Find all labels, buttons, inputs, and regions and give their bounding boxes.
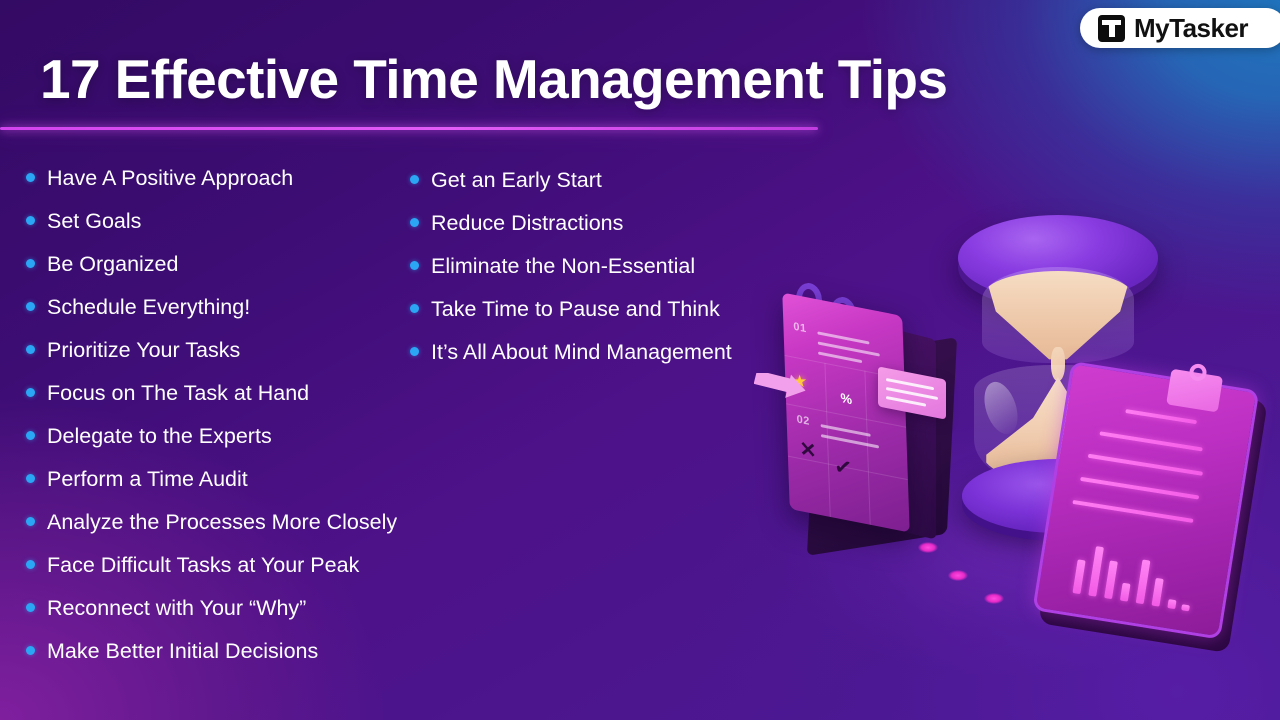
decorative-dot (918, 542, 938, 553)
chart-bar (1088, 546, 1104, 597)
tip-label: Reconnect with Your “Why” (47, 598, 306, 620)
tip-label: Face Difficult Tasks at Your Peak (47, 555, 359, 577)
clipboard-bar-chart (1072, 536, 1200, 612)
bullet-icon (26, 646, 35, 655)
calendar-grid-line (864, 371, 870, 525)
list-item: Take Time to Pause and Think (410, 299, 810, 342)
list-item: Analyze the Processes More Closely (26, 512, 456, 555)
tip-label: Delegate to the Experts (47, 426, 272, 448)
calendar-text-line (818, 351, 862, 363)
chart-bar (1104, 560, 1118, 599)
chart-bar (1181, 604, 1190, 611)
tip-label: Analyze the Processes More Closely (47, 512, 397, 534)
bullet-icon (26, 173, 35, 182)
bullet-icon (26, 302, 35, 311)
tip-label: Get an Early Start (431, 170, 602, 192)
bullet-icon (26, 517, 35, 526)
clipboard-text-line (1088, 454, 1203, 476)
list-item: Perform a Time Audit (26, 469, 456, 512)
list-item: Focus on The Task at Hand (26, 383, 456, 426)
clipboard-board (1032, 361, 1259, 640)
list-item: Have A Positive Approach (26, 168, 456, 211)
mytasker-t-mark-icon (1098, 15, 1125, 42)
list-item: Reduce Distractions (410, 213, 810, 256)
bullet-icon (26, 216, 35, 225)
page-title: 17 Effective Time Management Tips (40, 47, 947, 111)
tips-list-left: Have A Positive Approach Set Goals Be Or… (26, 168, 456, 684)
list-item: Be Organized (26, 254, 456, 297)
bullet-icon (410, 175, 419, 184)
chart-bar (1072, 559, 1085, 594)
calendar-day-label: 02 (796, 413, 810, 428)
tip-label: Focus on The Task at Hand (47, 383, 309, 405)
title-divider (0, 127, 818, 130)
clipboard-icon (1031, 361, 1270, 651)
list-item: Delegate to the Experts (26, 426, 456, 469)
bubble-text-line (886, 396, 926, 407)
infographic-poster: MyTasker 17 Effective Time Management Ti… (0, 0, 1280, 720)
time-management-illustration: 01 % 02 ✕ ✓ ★ (760, 215, 1280, 685)
bullet-icon (26, 603, 35, 612)
bullet-icon (410, 261, 419, 270)
calendar-cross-icon: ✕ (799, 436, 817, 464)
list-item: Eliminate the Non-Essential (410, 256, 810, 299)
tip-label: Take Time to Pause and Think (431, 299, 720, 321)
list-item: Make Better Initial Decisions (26, 641, 456, 684)
list-item: It’s All About Mind Management (410, 342, 810, 385)
clipboard-text-line (1125, 409, 1197, 424)
chart-bar (1151, 578, 1163, 607)
tip-label: It’s All About Mind Management (431, 342, 732, 364)
tip-label: Eliminate the Non-Essential (431, 256, 695, 278)
tip-label: Schedule Everything! (47, 297, 250, 319)
calendar-front-face: 01 % 02 ✕ ✓ (782, 292, 909, 532)
list-item: Reconnect with Your “Why” (26, 598, 456, 641)
calendar-day-label: 01 (793, 321, 807, 336)
list-item: Schedule Everything! (26, 297, 456, 340)
chart-bar (1167, 599, 1176, 609)
bullet-icon (26, 474, 35, 483)
tip-label: Perform a Time Audit (47, 469, 248, 491)
brand-logo-badge[interactable]: MyTasker (1080, 8, 1280, 48)
tip-label: Make Better Initial Decisions (47, 641, 318, 663)
calendar-grid-line (824, 363, 830, 517)
bullet-icon (410, 304, 419, 313)
bullet-icon (26, 560, 35, 569)
list-item: Face Difficult Tasks at Your Peak (26, 555, 456, 598)
chart-bar (1120, 583, 1131, 602)
tip-label: Set Goals (47, 211, 141, 233)
list-item: Set Goals (26, 211, 456, 254)
bullet-icon (410, 218, 419, 227)
clipboard-text-line (1080, 477, 1199, 500)
bullet-icon (26, 431, 35, 440)
bullet-icon (410, 347, 419, 356)
brand-name-label: MyTasker (1134, 13, 1248, 44)
calendar-percent-label: % (840, 390, 852, 407)
tip-label: Prioritize Your Tasks (47, 340, 240, 362)
clipboard-text-line (1099, 431, 1202, 451)
chart-bar (1136, 559, 1151, 604)
decorative-dot (984, 593, 1004, 604)
tips-list-right: Get an Early Start Reduce Distractions E… (410, 170, 810, 385)
calendar-arrow-icon (754, 373, 812, 399)
calendar-check-icon: ✓ (833, 452, 853, 483)
tip-label: Reduce Distractions (431, 213, 623, 235)
tip-label: Be Organized (47, 254, 178, 276)
bullet-icon (26, 259, 35, 268)
decorative-dot (948, 570, 968, 581)
bullet-icon (26, 345, 35, 354)
tip-label: Have A Positive Approach (47, 168, 293, 190)
list-item: Prioritize Your Tasks (26, 340, 456, 383)
desk-calendar-icon: 01 % 02 ✕ ✓ ★ (768, 277, 953, 537)
bullet-icon (26, 388, 35, 397)
clipboard-text-line (1072, 500, 1193, 523)
list-item: Get an Early Start (410, 170, 810, 213)
